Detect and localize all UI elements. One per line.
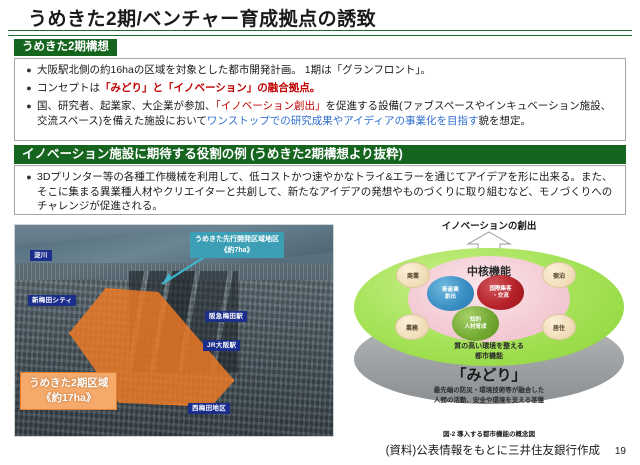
map-label-jr-osaka-station: JR大阪駅: [203, 340, 240, 351]
international-line2: ・交流: [489, 293, 511, 300]
concept-diagram: イノベーションの創出 中核機能 商業 宿泊 業務 居住 新産業 創出 国際集客 …: [346, 218, 632, 418]
diagram-circle-business: 業務: [395, 314, 429, 340]
map-label-nishi-umeda-district: 西梅田地区: [188, 403, 230, 414]
human-resource-line1: 知的: [464, 317, 486, 324]
diagram-base-text: 最先端の防災・環境技術等が融合した 人間の活動、安全や環境を支える基盤: [346, 386, 632, 406]
quality-line2: 都市機能: [346, 352, 632, 362]
diagram-circle-human-resource: 知的 人材育成: [452, 306, 499, 341]
bullet-segment-highlight-blue: ワンストップでの研究成果やアイディアの事業化を目指す: [207, 115, 479, 127]
bullet-text: コンセプトは「みどり」と「イノベーション」の融合拠点。: [37, 81, 619, 96]
diagram-circle-international-exchange: 国際集客 ・交流: [477, 275, 524, 310]
section-header-umekita-concept: うめきた2期構想: [14, 39, 117, 56]
list-item: ● 3Dプリンター等の各種工作機械を利用して、低コストかつ速やかなトライ&エラー…: [21, 170, 619, 214]
bullet-segment: コンセプトは: [37, 82, 100, 94]
new-industry-line1: 新産業: [442, 287, 459, 294]
figure-caption: 図-2 導入する都市機能の概念図: [346, 428, 632, 438]
diagram-circle-residence: 居住: [542, 314, 576, 340]
map-label-yodogawa: 淀川: [30, 250, 52, 261]
callout-senko-development-area: うめきた先行開発区域地区 《約7ha》: [190, 232, 284, 258]
callout-zone-line1: うめきた2期区域: [29, 376, 108, 391]
map-label-shin-umeda-city: 新梅田シティ: [28, 295, 76, 306]
list-item: ● 国、研究者、起業家、大企業が参加、「イノベーション創出」を促進する設備(ファ…: [21, 99, 619, 128]
bullet-dot-icon: ●: [21, 170, 37, 185]
diagram-circle-commerce: 商業: [396, 262, 430, 288]
bullet-segment-highlight-red: 「イノベーション創出」: [216, 100, 326, 112]
list-item: ● 大阪駅北側の約16haの区域を対象とした都市開発計画。 1期は「グランフロン…: [21, 63, 619, 78]
base-line2: 人間の活動、安全や環境を支える基盤: [346, 396, 632, 406]
section-header-innovation-roles: イノベーション施設に期待する役割の例 (うめきた2期構想より抜粋): [14, 145, 626, 164]
diagram-circle-lodging: 宿泊: [542, 262, 576, 288]
list-item: ● コンセプトは「みどり」と「イノベーション」の融合拠点。: [21, 81, 619, 96]
bullet-text: 大阪駅北側の約16haの区域を対象とした都市開発計画。 1期は「グランフロント」…: [37, 63, 619, 78]
quality-line1: 質の高い環境を整える: [346, 342, 632, 352]
bullet-text: 3Dプリンター等の各種工作機械を利用して、低コストかつ速やかなトライ&エラーを通…: [37, 170, 619, 214]
bullet-dot-icon: ●: [21, 81, 37, 96]
bullets-box-innovation-roles: ● 3Dプリンター等の各種工作機械を利用して、低コストかつ速やかなトライ&エラー…: [14, 165, 626, 215]
diagram-circle-new-industry: 新産業 創出: [427, 276, 474, 311]
human-resource-line2: 人材育成: [464, 324, 486, 331]
new-industry-line2: 創出: [442, 294, 459, 301]
diagram-midori-label: 「みどり」: [346, 364, 632, 385]
title-divider: [8, 30, 632, 36]
diagram-top-label: イノベーションの創出: [346, 218, 632, 232]
footer-page-number: 19: [615, 446, 626, 457]
bullet-dot-icon: ●: [21, 99, 37, 114]
bullet-text: 国、研究者、起業家、大企業が参加、「イノベーション創出」を促進する設備(ファブス…: [37, 99, 619, 128]
international-line1: 国際集客: [489, 286, 511, 293]
bullet-segment: 国、研究者、起業家、大企業が参加、: [37, 100, 216, 112]
bullets-box-umekita-concept: ● 大阪駅北側の約16haの区域を対象とした都市開発計画。 1期は「グランフロン…: [14, 58, 626, 141]
bullet-dot-icon: ●: [21, 63, 37, 78]
callout-senko-line1: うめきた先行開発区域地区: [195, 234, 279, 245]
page-title: うめきた2期/ベンチャー育成拠点の誘致: [28, 4, 376, 31]
callout-senko-line2: 《約7ha》: [195, 245, 279, 256]
map-label-hankyu-umeda-station: 阪急梅田駅: [205, 311, 247, 322]
callout-umekita-phase2-zone: うめきた2期区域 《約17ha》: [20, 372, 117, 410]
bullet-segment: 大阪駅北側の約16haの区域を対象とした都市開発計画。 1期は「グランフロント」…: [37, 64, 431, 76]
diagram-quality-text: 質の高い環境を整える 都市機能: [346, 342, 632, 362]
callout-zone-line2: 《約17ha》: [29, 391, 108, 406]
bullet-segment: 貌を想定。: [478, 115, 531, 127]
bullet-segment-highlight-red: 「みどり」と「イノベーション」の融合拠点。: [100, 82, 320, 94]
footer-source-note: (資料)公表情報をもとに三井住友銀行作成: [386, 442, 600, 458]
base-line1: 最先端の防災・環境技術等が融合した: [346, 386, 632, 396]
